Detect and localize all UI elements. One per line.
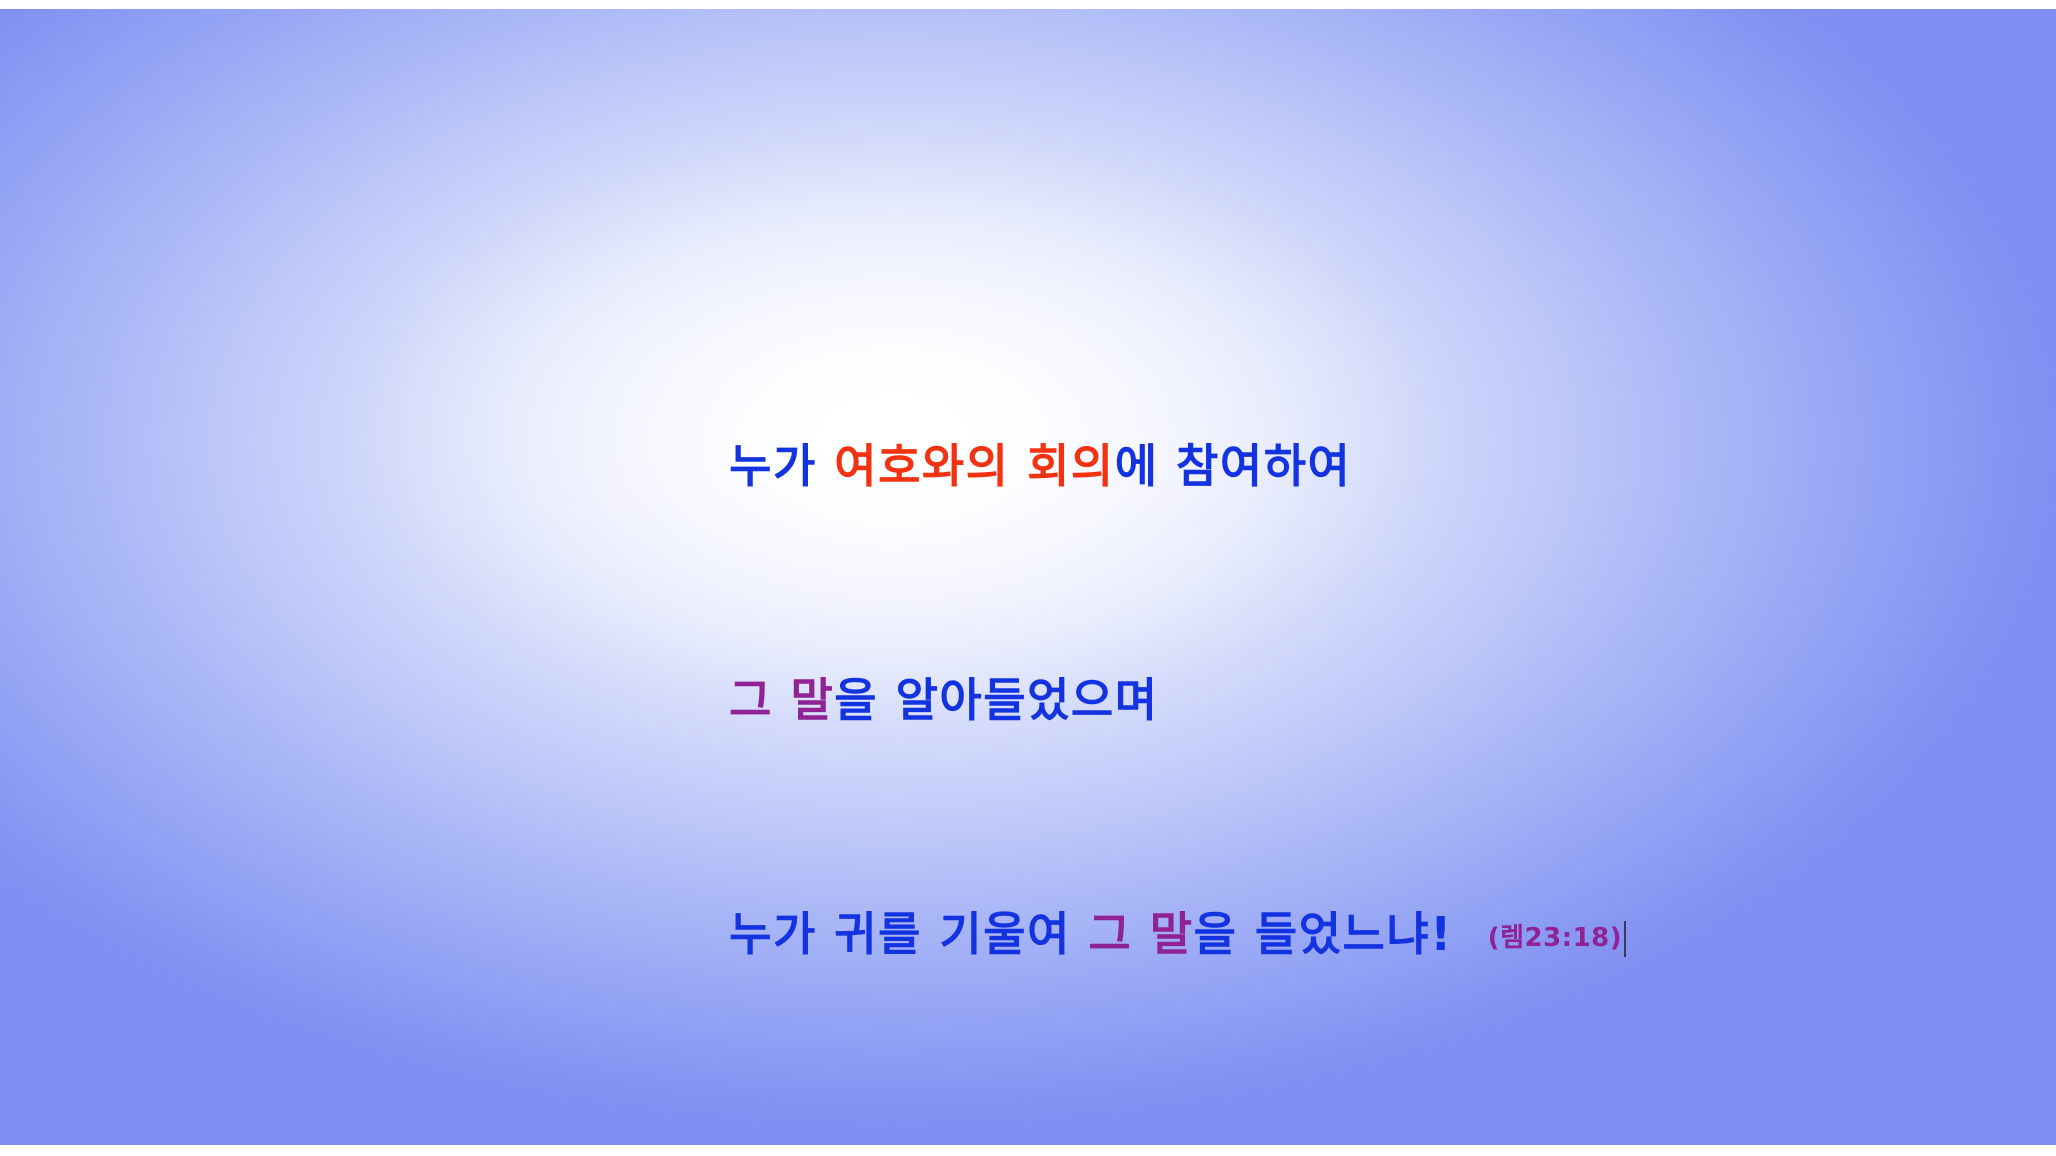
- verse-line-3[interactable]: 누가 귀를 기울여 그 말을 들었느냐! (렘23:18): [589, 817, 1849, 1059]
- verse-line-1-segment-2: 여호와의 회의: [834, 439, 1114, 493]
- verse-line-2[interactable]: 그 말을 알아들었으며: [589, 583, 1849, 817]
- verse-line-3-segment-1: 누가 귀를 기울여: [729, 907, 1088, 961]
- slide-background: 누가 여호와의 회의에 참여하여 그 말을 알아들었으며 누가 귀를 기울여 그…: [0, 9, 2056, 1145]
- verse-reference-citation: (렘23:18): [1488, 923, 1622, 953]
- verse-line-1-segment-1: 누가: [729, 439, 834, 493]
- citation-spacer: [1453, 907, 1488, 961]
- verse-line-1[interactable]: 누가 여호와의 회의에 참여하여: [589, 349, 1849, 583]
- text-caret: [1624, 921, 1626, 957]
- verse-line-1-segment-3: 에 참여하여: [1115, 439, 1352, 493]
- verse-text-block[interactable]: 누가 여호와의 회의에 참여하여 그 말을 알아들었으며 누가 귀를 기울여 그…: [589, 349, 1849, 1059]
- verse-line-3-segment-3: 을 들었느냐!: [1194, 907, 1453, 961]
- verse-line-3-segment-2: 그 말: [1088, 907, 1193, 961]
- verse-line-2-segment-1: 그 말: [729, 673, 834, 727]
- slide-canvas: 누가 여호와의 회의에 참여하여 그 말을 알아들었으며 누가 귀를 기울여 그…: [0, 0, 2056, 1156]
- verse-line-2-segment-2: 을 알아들었으며: [834, 673, 1158, 727]
